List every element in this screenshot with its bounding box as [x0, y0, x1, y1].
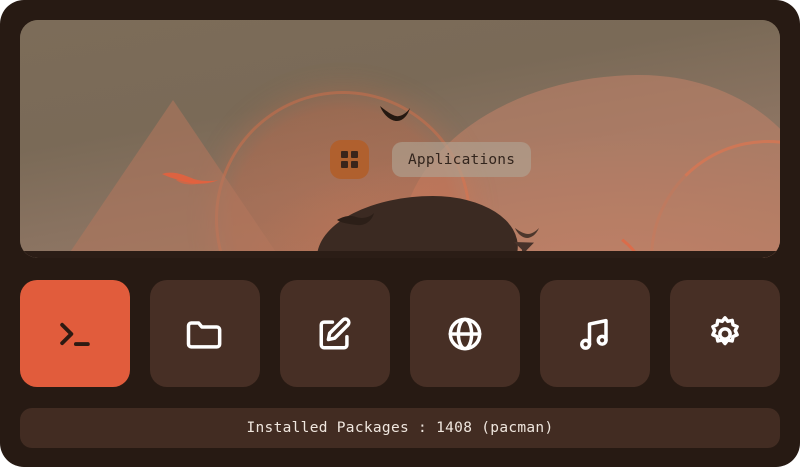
bird-silhouette-center	[336, 210, 376, 232]
bird-silhouette-left	[160, 168, 220, 188]
applications-tooltip-label: Applications	[408, 152, 515, 168]
wallpaper-ground	[20, 251, 780, 258]
dock-item-web-browser[interactable]	[410, 280, 520, 387]
applications-launcher-button[interactable]	[330, 140, 369, 179]
grid-icon	[341, 151, 358, 168]
desktop-window: Applications	[0, 0, 800, 467]
dock-item-text-editor[interactable]	[280, 280, 390, 387]
applications-tooltip: Applications	[392, 142, 531, 177]
bird-silhouette-right	[514, 226, 540, 240]
bird-silhouette-top	[378, 102, 412, 124]
edit-icon	[313, 312, 357, 356]
music-icon	[573, 312, 617, 356]
globe-icon	[443, 312, 487, 356]
grid-cell	[341, 161, 348, 168]
terminal-icon	[53, 312, 97, 356]
dock	[20, 280, 780, 387]
dock-item-terminal[interactable]	[20, 280, 130, 387]
grid-cell	[351, 151, 358, 158]
grid-cell	[341, 151, 348, 158]
gear-icon	[703, 312, 747, 356]
installed-packages-status: Installed Packages : 1408 (pacman)	[246, 420, 553, 436]
dock-item-settings[interactable]	[670, 280, 780, 387]
grid-cell	[351, 161, 358, 168]
folder-icon	[183, 312, 227, 356]
desktop-wallpaper-panel[interactable]: Applications	[20, 20, 780, 258]
status-bar: Installed Packages : 1408 (pacman)	[20, 408, 780, 448]
dock-item-music[interactable]	[540, 280, 650, 387]
dock-item-files[interactable]	[150, 280, 260, 387]
